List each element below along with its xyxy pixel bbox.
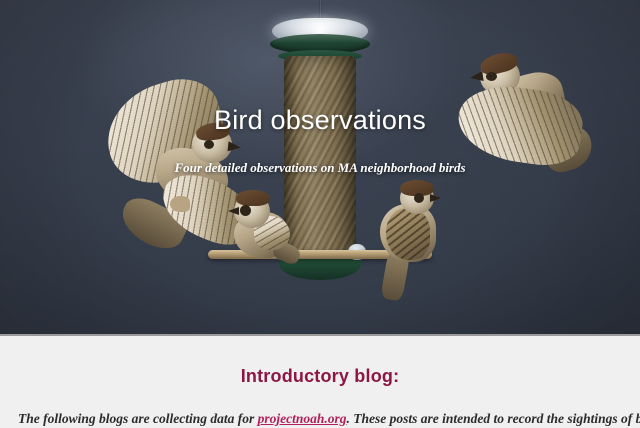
bird-beak [228, 207, 239, 215]
intro-paragraph-text-before: The following blogs are collecting data … [18, 411, 258, 426]
page-subtitle: Four detailed observations on MA neighbo… [0, 160, 640, 176]
page-title: Bird observations [0, 104, 640, 138]
bird-cheek-patch [240, 205, 251, 216]
content-area: Introductory blog: The following blogs a… [0, 336, 640, 428]
section-heading-introductory-blog: Introductory blog: [0, 336, 640, 387]
bird-cheek-patch [486, 72, 497, 81]
hero-text-block: Bird observations Four detailed observat… [0, 104, 640, 176]
bird-beak [469, 71, 483, 83]
bird-crown [236, 190, 270, 206]
bird-beak [430, 194, 441, 202]
page-root: Bird observations Four detailed observat… [0, 0, 640, 428]
bird-cheek-patch [414, 193, 424, 203]
content-inner: Introductory blog: The following blogs a… [0, 336, 640, 428]
bird-feet [170, 196, 190, 212]
intro-paragraph-text-after: . These posts are intended to record the… [347, 411, 640, 426]
projectnoah-link[interactable]: projectnoah.org [258, 411, 347, 426]
sparrow-perched-right [370, 182, 450, 302]
bird-wing [386, 208, 430, 260]
hero-banner: Bird observations Four detailed observat… [0, 0, 640, 336]
sparrow-perched-left [228, 190, 302, 276]
intro-paragraph: The following blogs are collecting data … [0, 409, 640, 428]
